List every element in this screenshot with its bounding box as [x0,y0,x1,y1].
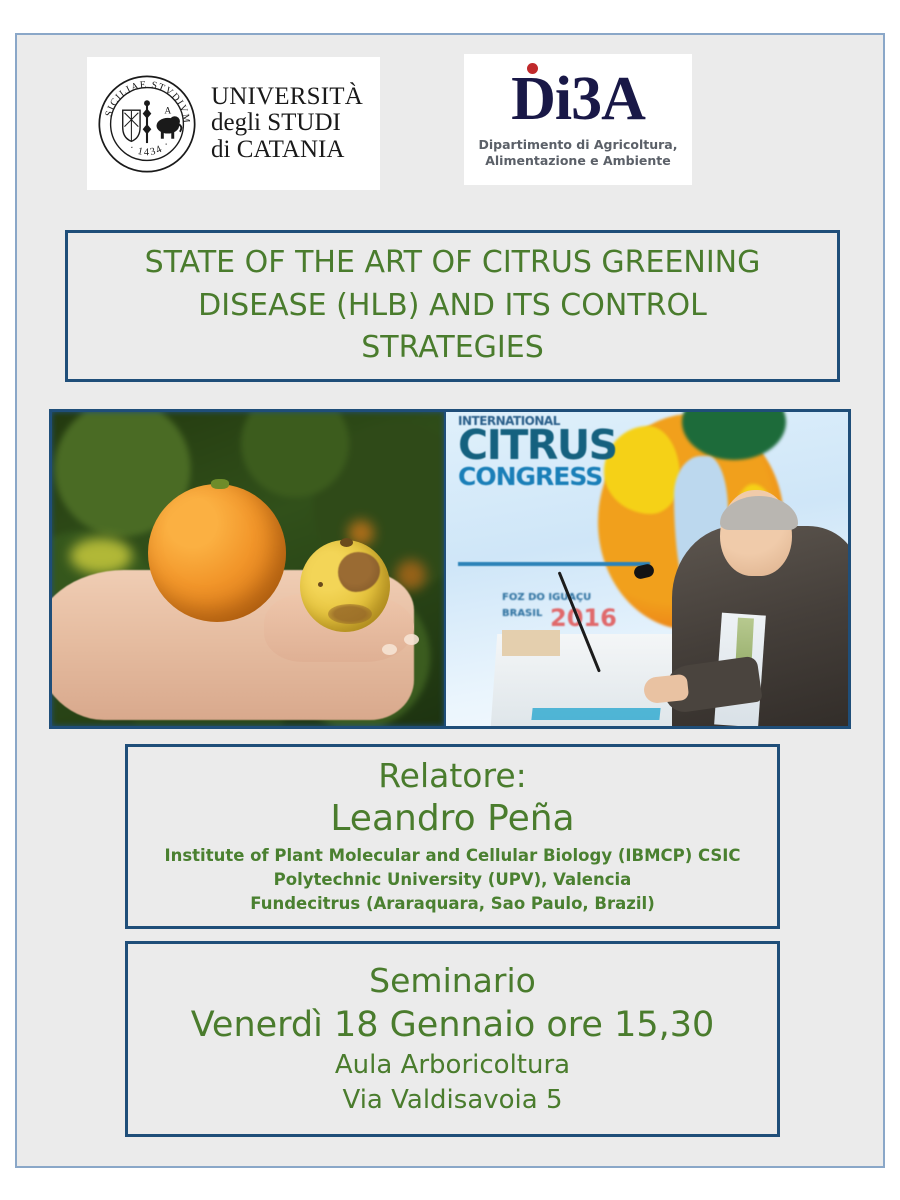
university-seal-icon: SICILIAE STVDIVM GENERALE · 1434 · A [95,72,199,176]
photo-citrus-fruits [52,412,446,726]
speaker-affiliations: Institute of Plant Molecular and Cellula… [164,844,740,916]
podium-top [502,630,560,656]
photo-row: INTERNATIONAL CITRUS CONGRESS FOZ DO IGU… [49,409,851,729]
fingernail-shape [382,644,397,655]
university-line-2: degli STUDI [211,110,363,136]
affiliation-line: Fundecitrus (Araraquara, Sao Paulo, Braz… [164,892,740,916]
university-name-block: UNIVERSITÀ degli STUDI di CATANIA [211,84,363,163]
congress-banner-text: INTERNATIONAL CITRUS CONGRESS [458,416,618,488]
page-title: STATE OF THE ART OF CITRUS GREENING DISE… [127,242,779,370]
title-line-3: STRATEGIES [145,327,761,370]
affiliation-line: Polytechnic University (UPV), Valencia [164,868,740,892]
background-foliage-blob [70,538,132,574]
di3a-subtitle-line-2: Alimentazione e Ambiente [479,153,678,169]
speaker-hand [643,674,689,704]
speaker-name: Leandro Peña [330,797,574,840]
event-venue: Aula Arboricoltura [335,1048,570,1083]
title-line-2: DISEASE (HLB) AND ITS CONTROL [145,285,761,328]
speaker-info-box: Relatore: Leandro Peña Institute of Plan… [125,744,780,929]
poster-frame: SICILIAE STVDIVM GENERALE · 1434 · A [15,33,885,1168]
event-datetime: Venerdì 18 Gennaio ore 15,30 [191,1003,715,1049]
healthy-orange-fruit [148,484,286,622]
university-line-3: di CATANIA [211,137,363,163]
university-line-1: UNIVERSITÀ [211,84,363,110]
banner-rule [458,562,650,566]
banner-line-congress: CONGRESS [458,465,618,488]
di3a-wordmark: Di3A [511,70,645,129]
di3a-subtitle: Dipartimento di Agricoltura, Alimentazio… [479,137,678,168]
di3a-subtitle-line-1: Dipartimento di Agricoltura, [479,137,678,153]
seminar-title-box: STATE OF THE ART OF CITRUS GREENING DISE… [65,230,840,382]
svg-text:A: A [164,106,171,116]
event-type: Seminario [369,960,536,1003]
event-info-box: Seminario Venerdì 18 Gennaio ore 15,30 A… [125,941,780,1137]
speaker-label: Relatore: [378,757,527,795]
fruit-stem [340,538,353,547]
logo-row: SICILIAE STVDIVM GENERALE · 1434 · A [17,35,883,195]
title-line-1: STATE OF THE ART OF CITRUS GREENING [145,242,761,285]
di3a-red-dot-icon [527,63,538,74]
di3a-logo: Di3A Dipartimento di Agricoltura, Alimen… [464,54,692,185]
fruit-speck [318,582,323,587]
fingernail-shape [404,634,419,645]
fruit-blotch [328,604,372,624]
podium-stripe [531,708,660,720]
affiliation-line: Institute of Plant Molecular and Cellula… [164,844,740,868]
event-address: Via Valdisavoia 5 [342,1083,562,1118]
svg-text:SICILIAE STVDIVM GENERALE: SICILIAE STVDIVM GENERALE [95,72,192,125]
photo-speaker-at-congress: INTERNATIONAL CITRUS CONGRESS FOZ DO IGU… [446,412,848,726]
banner-line-citrus: CITRUS [458,427,618,465]
university-of-catania-logo: SICILIAE STVDIVM GENERALE · 1434 · A [87,57,380,190]
